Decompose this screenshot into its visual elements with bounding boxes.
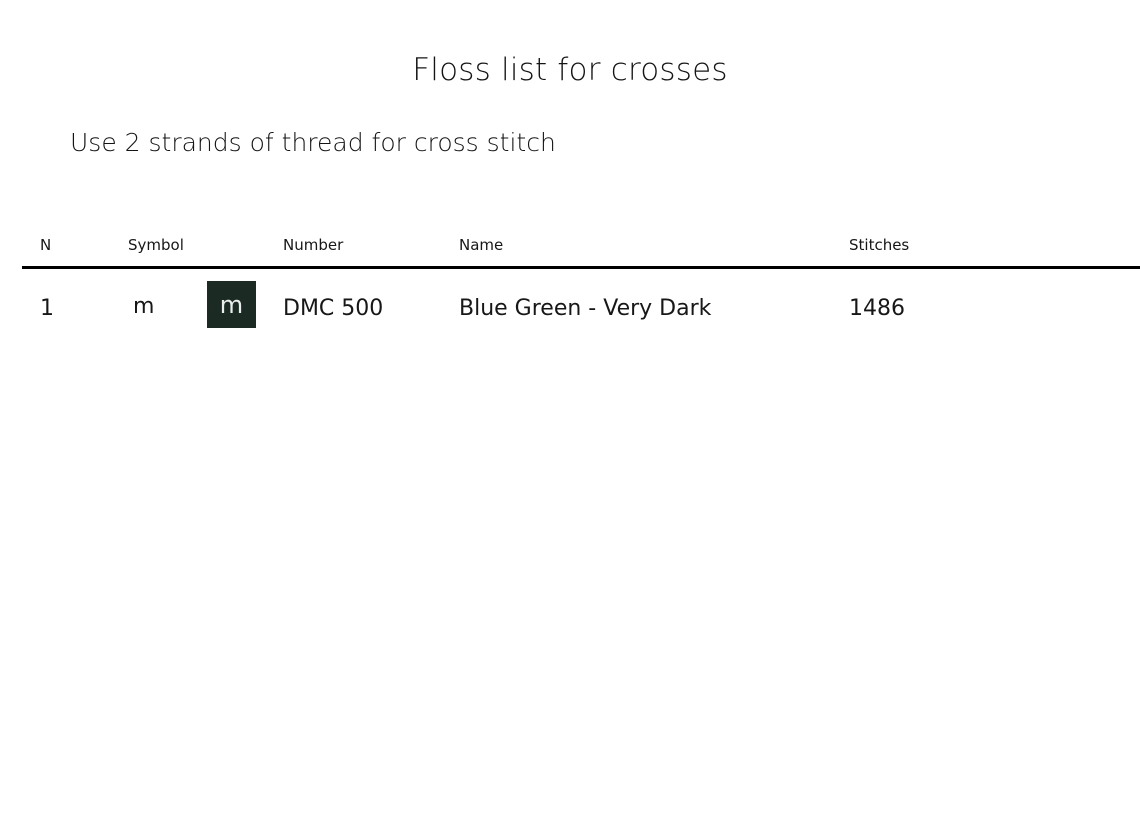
table-body: 1 m m DMC 500 Blue Green - Very Dark 148… — [0, 269, 1140, 347]
color-swatch-symbol: m — [220, 293, 243, 317]
floss-list-page: Floss list for crosses Use 2 strands of … — [0, 0, 1140, 820]
instructions-text: Use 2 strands of thread for cross stitch — [70, 128, 556, 158]
floss-name: Blue Green - Very Dark — [459, 296, 711, 321]
table-header-row: N Symbol Number Name Stitches — [0, 232, 1140, 266]
floss-table: N Symbol Number Name Stitches 1 m m DMC … — [0, 232, 1140, 347]
page-title: Floss list for crosses — [0, 52, 1140, 89]
stitch-count: 1486 — [849, 296, 905, 321]
column-header-stitches: Stitches — [849, 236, 909, 254]
table-row: 1 m m DMC 500 Blue Green - Very Dark 148… — [0, 269, 1140, 347]
symbol-glyph: m — [133, 296, 154, 318]
column-header-symbol: Symbol — [128, 236, 184, 254]
row-index: 1 — [40, 296, 54, 321]
floss-number: DMC 500 — [283, 296, 383, 321]
column-header-name: Name — [459, 236, 503, 254]
color-swatch: m — [207, 281, 256, 328]
column-header-n: N — [40, 236, 51, 254]
column-header-number: Number — [283, 236, 343, 254]
